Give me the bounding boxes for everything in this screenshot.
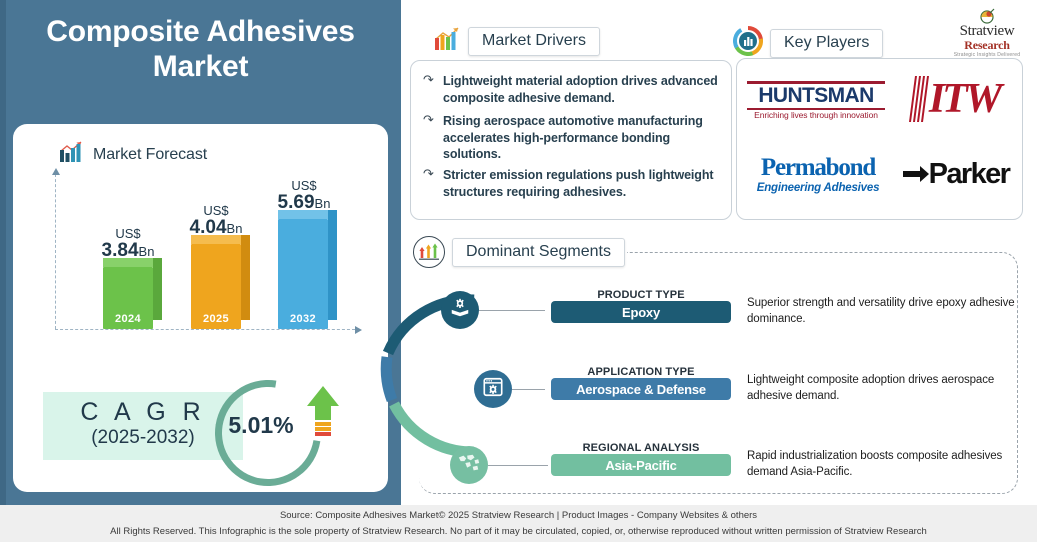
itw-name: ITW [929,75,999,123]
globe-icon [457,452,481,479]
dominant-segments-label: Dominant Segments [452,238,625,267]
driver-item-3: ↷ Stricter emission regulations push lig… [423,167,721,200]
bar-2025-number: 4.04 [190,217,227,238]
brand-logo: Stratview Research Strategic Insights De… [944,8,1030,58]
loop-arrow-icon: ↷ [423,167,435,200]
market-forecast-header: Market Forecast [58,140,207,169]
driver-text-1: Lightweight material adoption drives adv… [443,73,721,106]
market-forecast-card: Market Forecast 2024 US$ 3.84Bn [13,124,388,492]
bar-2024-currency: US$ [85,227,171,241]
logo-itw: ITW [889,65,1017,133]
huntsman-tagline: Enriching lives through innovation [747,110,885,120]
bar-2032-value: US$ 5.69Bn [261,179,347,213]
footer-source: Source: Composite Adhesives Market© 2025… [0,510,1037,521]
bar-2024: 2024 [103,267,153,329]
cagr-label: C A G R [80,400,205,425]
permabond-tagline: Engineering Adhesives [757,182,880,194]
bar-2032-currency: US$ [261,179,347,193]
market-drivers-badge: Market Drivers [433,26,600,57]
forecast-bar-chart: 2024 US$ 3.84Bn 2025 US$ 4.04Bn [33,172,368,347]
permabond-name: Permabond [757,154,880,182]
key-players-card: HUNTSMAN Enriching lives through innovat… [736,58,1023,220]
segment-label-regional-analysis: REGIONAL ANALYSIS [551,442,731,454]
left-panel: Composite Adhesives Market Market Foreca… [0,0,401,505]
arrow-up-icon [306,384,340,450]
bar-2025-currency: US$ [173,204,259,218]
market-forecast-label: Market Forecast [93,146,207,164]
bar-2032-number: 5.69 [278,192,315,213]
bar-chart-icon [58,140,84,169]
market-drivers-card: ↷ Lightweight material adoption drives a… [410,60,732,220]
bar-2025-year: 2025 [191,313,241,325]
parker-arrow-icon [903,164,929,184]
loop-arrow-icon: ↷ [423,113,435,163]
segment-node-product-type [441,291,479,329]
segment-desc-regional-analysis: Rapid industrialization boosts composite… [747,449,1027,481]
segment-connector-1 [479,310,545,311]
segment-label-application-type: APPLICATION TYPE [551,366,731,378]
huntsman-name: HUNTSMAN [747,84,885,108]
segment-value-product-type: Epoxy [551,301,731,323]
bar-2024-value: US$ 3.84Bn [85,227,171,261]
bar-2032: 2032 [278,219,328,329]
stratview-logo-icon [977,8,997,24]
key-players-label: Key Players [770,29,883,58]
chart-x-axis [55,329,355,330]
segment-connector-2 [512,389,545,390]
cagr-period: (2025-2032) [91,425,195,452]
segment-node-application-type [474,370,512,408]
segment-node-regional-analysis [450,446,488,484]
driver-item-1: ↷ Lightweight material adoption drives a… [423,73,721,106]
key-players-badge: Key Players [733,26,883,61]
bar-2024-year: 2024 [103,313,153,325]
bar-2032-unit: Bn [315,196,331,211]
bar-2025: 2025 [191,244,241,329]
segment-desc-product-type: Superior strength and versatility drive … [747,296,1027,328]
infographic-root: Composite Adhesives Market Market Foreca… [0,0,1037,542]
pie-chart-circle-icon [733,26,763,61]
parker-name: Parker [929,158,1010,191]
application-window-gear-icon [482,376,504,403]
bar-2024-unit: Bn [139,244,155,259]
cagr-section: C A G R (2025-2032) 5.01% [29,376,374,476]
loop-arrow-icon: ↷ [423,73,435,106]
segment-label-product-type: PRODUCT TYPE [551,289,731,301]
bar-2024-number: 3.84 [102,240,139,261]
itw-stripes-icon [907,74,929,124]
bar-2025-value: US$ 4.04Bn [173,204,259,238]
product-gear-icon [449,297,471,324]
market-drivers-label: Market Drivers [468,27,600,56]
driver-text-2: Rising aerospace automotive manufacturin… [443,113,721,163]
bar-2032-side [328,210,337,320]
bar-2025-side [241,235,250,320]
brand-tagline: Strategic Insights Delivered [944,53,1030,58]
cagr-value: 5.01% [213,412,309,439]
driver-item-2: ↷ Rising aerospace automotive manufactur… [423,113,721,163]
brand-name-secondary: Research [944,39,1030,51]
logo-parker: Parker [893,141,1019,207]
segment-value-regional-analysis: Asia-Pacific [551,454,731,476]
driver-text-3: Stricter emission regulations push light… [443,167,721,200]
page-title: Composite Adhesives Market [0,14,401,85]
bar-2032-year: 2032 [278,313,328,325]
footer: Source: Composite Adhesives Market© 2025… [0,505,1037,542]
dominant-segments-badge: Dominant Segments [413,236,627,268]
brand-name-primary: Stratview [944,24,1030,39]
segment-value-application-type: Aerospace & Defense [551,378,731,400]
segment-connector-3 [488,465,548,466]
chart-y-axis [55,174,56,329]
footer-rights: All Rights Reserved. This Infographic is… [0,526,1037,537]
logo-permabond: Permabond Engineering Adhesives [743,141,893,207]
segment-desc-application-type: Lightweight composite adoption drives ae… [747,373,1027,405]
bar-2025-unit: Bn [227,221,243,236]
growth-chart-icon [433,26,461,57]
arrows-up-chart-icon [413,236,445,268]
bar-2024-side [153,258,162,320]
logo-huntsman: HUNTSMAN Enriching lives through innovat… [743,67,889,133]
